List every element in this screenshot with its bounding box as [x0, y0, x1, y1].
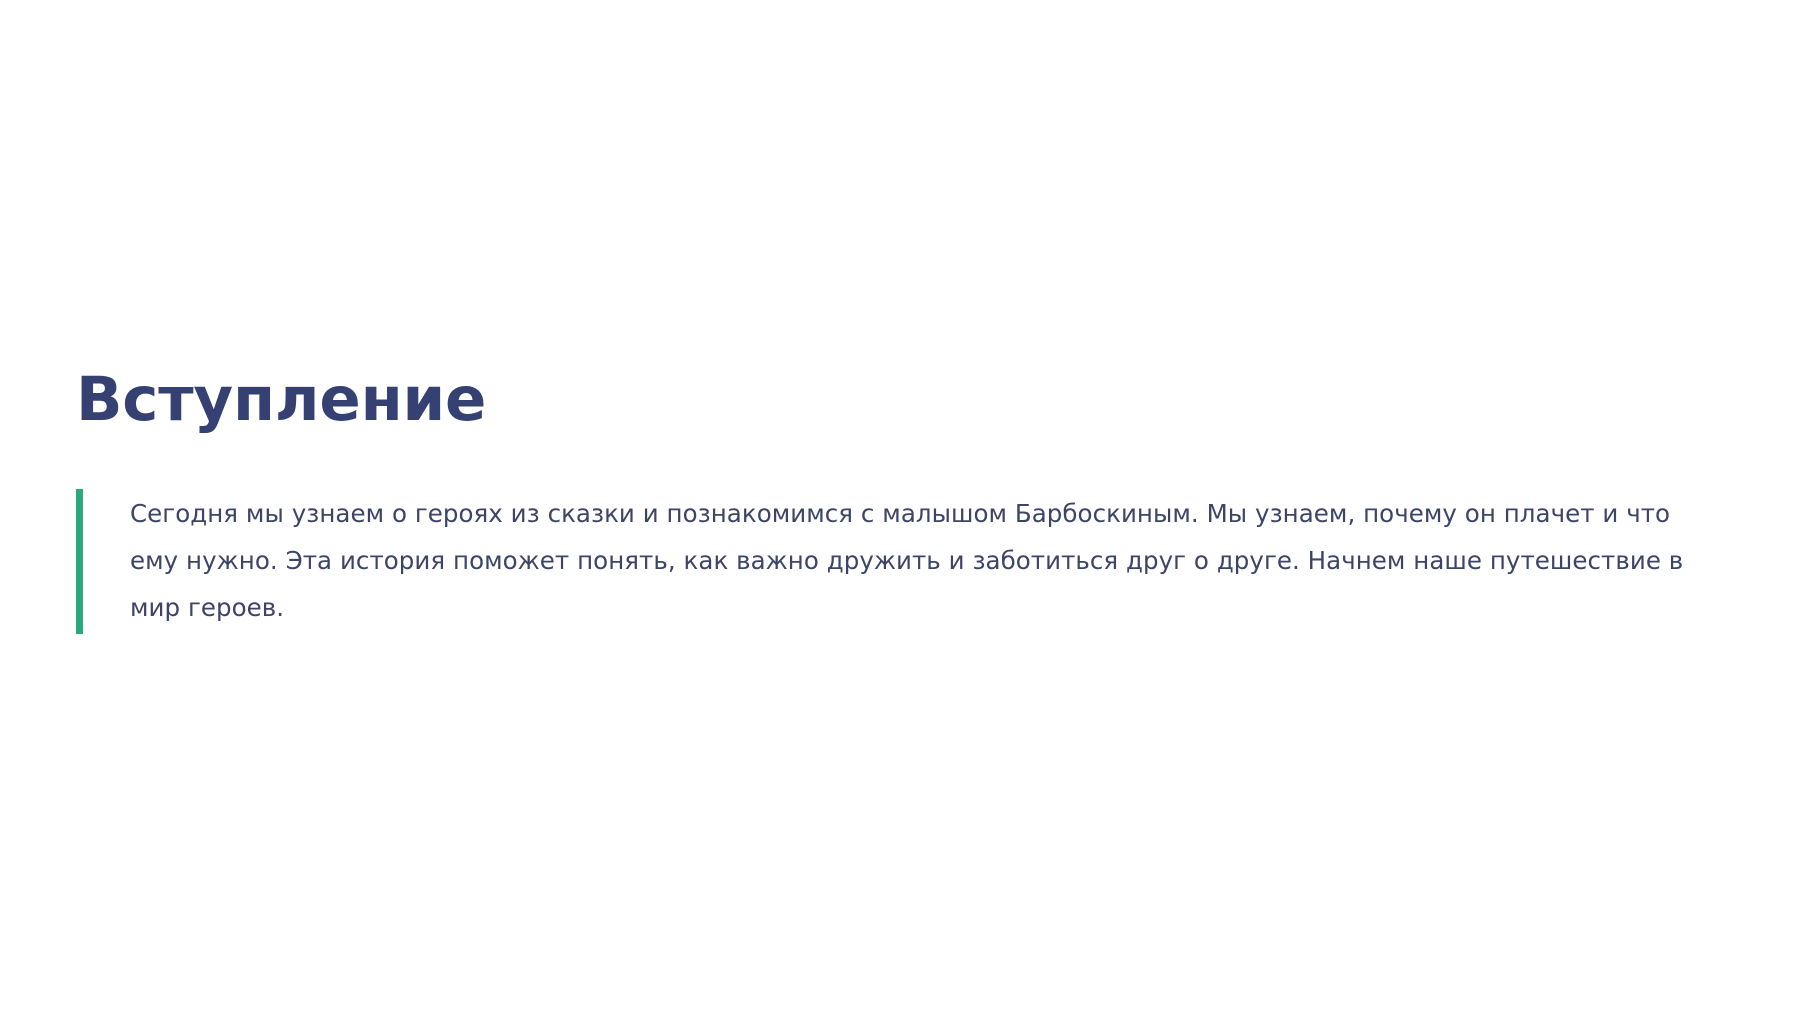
slide-canvas: Вступление Сегодня мы узнаем о героях из…	[0, 0, 1800, 1013]
body-text-container: Сегодня мы узнаем о героях из сказки и п…	[83, 489, 1716, 634]
intro-paragraph: Сегодня мы узнаем о героях из сказки и п…	[130, 490, 1710, 631]
accent-bar	[76, 489, 83, 634]
intro-text-block: Сегодня мы узнаем о героях из сказки и п…	[76, 489, 1716, 634]
page-title: Вступление	[76, 368, 486, 433]
